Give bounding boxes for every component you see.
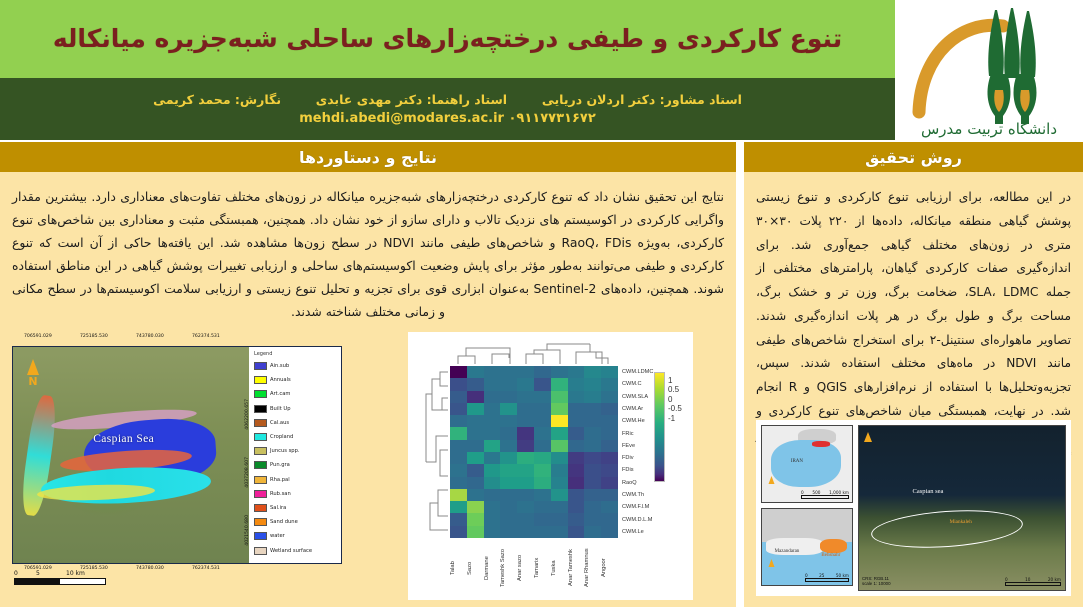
heatmap-cell [484, 452, 501, 464]
legend-item: Annuals [254, 373, 341, 387]
legend-swatch [254, 532, 267, 540]
behshahr-highlight [820, 539, 847, 553]
heatmap-cell [484, 477, 501, 489]
legend-swatch [254, 390, 267, 398]
heatmap-cell [584, 403, 601, 415]
heatmap-cell [568, 489, 585, 501]
legend-swatch [254, 504, 267, 512]
legend-item: Ain.sub [254, 359, 341, 373]
heatmap-cell [601, 378, 618, 390]
heatmap-cell [551, 489, 568, 501]
heatmap-cell [517, 427, 534, 439]
heatmap-wrapper: CWM.LDMCCWM.CCWM.SLACWM.ArCWM.HeFRicFEve… [408, 332, 693, 600]
legend-item: Sand dune [254, 515, 341, 529]
heatmap-cell [584, 513, 601, 525]
heatmap-cell [517, 464, 534, 476]
heatmap-cell [517, 440, 534, 452]
heatmap-cell [517, 378, 534, 390]
heatmap-column-label: Anar Tameshk [568, 539, 585, 597]
heatmap-cell [584, 489, 601, 501]
heatmap-cell [450, 489, 467, 501]
row-dendrogram [422, 366, 448, 538]
mazandaran-north-arrow-icon [766, 559, 777, 579]
heatmap-cell [450, 415, 467, 427]
heatmap-cell [467, 513, 484, 525]
heatmap-cell [551, 526, 568, 538]
heatmap-cell [500, 501, 517, 513]
map-x-tick-top-1: 725185.530 [80, 334, 108, 339]
mazandaran-scalebar: 0 25 50 km [805, 573, 849, 582]
heatmap-cell [517, 489, 534, 501]
legend-item: Rha.pal [254, 473, 341, 487]
scalebar-max: 10 km [66, 570, 85, 577]
legend-label: Built Up [270, 406, 291, 412]
heatmap-cell [568, 378, 585, 390]
maz-scale-max: 50 km [836, 573, 849, 578]
heatmap-cell [601, 477, 618, 489]
sea-label: Caspian Sea [93, 433, 154, 445]
map-canvas: Caspian Sea N [13, 347, 249, 563]
heatmap-cell [450, 513, 467, 525]
iran-boundary [771, 440, 841, 487]
iran-scale-max: 1,000 km [829, 490, 849, 495]
scalebar-bar [14, 578, 106, 585]
heatmap-cell [517, 501, 534, 513]
legend-item: Wetland surface [254, 543, 341, 557]
results-section-header: نتایج و دستاوردها [0, 142, 736, 172]
legend-label: Ain.sub [270, 363, 289, 369]
contact-line: ۰۹۱۱۷۷۳۱۶۷۲ mehdi.abedi@modares.ac.ir [299, 111, 596, 126]
heatmap-cell [551, 403, 568, 415]
map-x-tick-top-3: 762374.531 [192, 334, 220, 339]
heatmap-cell [500, 366, 517, 378]
heatmap-cell [534, 526, 551, 538]
study-area-inset-figure: IRAN 0 500 1,000 km [756, 420, 1071, 596]
heatmap-cell [534, 513, 551, 525]
crs-line-2: scale 1: 10000 [862, 581, 891, 587]
heatmap-cell [601, 452, 618, 464]
satellite-crs-info: CRS: RGB.11 scale 1: 10000 [862, 576, 891, 587]
heatmap-cell [551, 477, 568, 489]
heatmap-cell [484, 427, 501, 439]
method-section-header: روش تحقیق [744, 142, 1083, 172]
tarbiat-modares-logo-icon: دانشگاه تربیت مدرس [899, 2, 1079, 138]
heatmap-cell [500, 391, 517, 403]
legend-label: Art.cam [270, 391, 290, 397]
heatmap-cell [601, 391, 618, 403]
mazandaran-scalebar-bar [805, 578, 849, 582]
legend-label: Sal.ira [270, 505, 286, 511]
heatmap-cell [601, 464, 618, 476]
heatmap-row-label: CWM.F.l.M [622, 501, 692, 513]
heatmap-cell [534, 391, 551, 403]
heatmap-cell [517, 415, 534, 427]
heatmap-cell [500, 427, 517, 439]
heatmap-cell [467, 427, 484, 439]
legend-label: Cropland [270, 434, 293, 440]
heatmap-cell [601, 501, 618, 513]
heatmap-cell [568, 501, 585, 513]
heatmap-cell [517, 403, 534, 415]
heatmap-cell [534, 366, 551, 378]
legend-item: Art.cam [254, 387, 341, 401]
results-paragraph: نتایج این تحقیق نشان داد که تنوع کارکردی… [12, 186, 724, 324]
colorbar-tick: -0.5 [668, 404, 682, 413]
heatmap-cell [450, 391, 467, 403]
heatmap-cell [584, 391, 601, 403]
iran-scale-mid: 500 [812, 490, 820, 495]
legend-label: Rha.pal [270, 477, 290, 483]
heatmap-cell [467, 501, 484, 513]
iran-scalebar-bar [801, 495, 849, 499]
heatmap-cell [517, 526, 534, 538]
iran-locator-map: IRAN 0 500 1,000 km [761, 425, 853, 503]
sat-scale-max: 20 km [1048, 577, 1061, 582]
legend-item: Juncus spp. [254, 444, 341, 458]
heatmap-cell [517, 513, 534, 525]
heatmap-cell [517, 452, 534, 464]
heatmap-column-label: Angoor [601, 539, 618, 597]
heatmap-cell [500, 513, 517, 525]
heatmap-cell [568, 366, 585, 378]
results-panel: نتایج این تحقیق نشان داد که تنوع کارکردی… [0, 172, 736, 607]
heatmap-row-label: CWM.D.L.M [622, 513, 692, 525]
legend-swatch [254, 376, 267, 384]
legend-title: Legend [254, 351, 341, 357]
heatmap-cell [568, 526, 585, 538]
heatmap-cell [517, 477, 534, 489]
heatmap-cell [534, 452, 551, 464]
heatmap-cell [534, 415, 551, 427]
heatmap-cell [450, 464, 467, 476]
heatmap-cell [450, 477, 467, 489]
behshahr-label: Behshahr [821, 553, 840, 558]
colorbar-tick: -1 [668, 414, 682, 423]
heatmap-cell [467, 391, 484, 403]
heatmap-cell [467, 366, 484, 378]
heatmap-cell [601, 489, 618, 501]
heatmap-cell [584, 366, 601, 378]
poster-title-band: تنوع کارکردی و طیفی درختچه‌زارهای ساحلی … [0, 0, 895, 78]
north-arrow-triangle [27, 359, 39, 375]
heatmap-cell [601, 403, 618, 415]
heatmap-cell [500, 440, 517, 452]
heatmap-cell [467, 415, 484, 427]
heatmap-cell [534, 403, 551, 415]
sat-scale-zero: 0 [1005, 577, 1008, 582]
satellite-study-area-map: Caspian sea Miankaleh CRS: RGB.11 scale … [858, 425, 1066, 591]
iran-scale-zero: 0 [801, 490, 804, 495]
heatmap-cell [467, 378, 484, 390]
iran-label: IRAN [791, 459, 803, 464]
poster-author-band: استاد مشاور: دکتر اردلان دریایی استاد را… [0, 78, 895, 140]
satellite-scalebar: 0 10 20 km [1005, 577, 1061, 586]
heatmap-cell [450, 378, 467, 390]
heatmap-column-label: Anar Rhamnus [584, 539, 601, 597]
heatmap-cell [534, 378, 551, 390]
map-y-tick-0: 4062200.657 [245, 399, 250, 430]
heatmap-cell [534, 477, 551, 489]
heatmap-cell [450, 452, 467, 464]
heatmap-column-label: Tamarix [534, 539, 551, 597]
heatmap-cell [534, 489, 551, 501]
method-panel: در این مطالعه، برای ارزیابی تنوع کارکردی… [744, 172, 1083, 607]
satellite-north-arrow-icon [864, 432, 872, 442]
heatmap-cell [450, 427, 467, 439]
north-arrow-triangle [769, 476, 775, 484]
maz-scale-mid: 25 [819, 573, 824, 578]
legend-item: Cal.aus [254, 416, 341, 430]
legend-rows: Ain.subAnnualsArt.camBuilt UpCal.ausCrop… [254, 359, 341, 558]
scalebar-numbers: 0 5 10 km [14, 570, 154, 577]
heatmap-column-labels: TalabSazoDarmaneTameshk SazoAnar sazoTam… [450, 539, 618, 597]
heatmap-cell [584, 477, 601, 489]
heatmap-cell [584, 464, 601, 476]
heatmap-cell [551, 501, 568, 513]
colorbar-tick: 0 [668, 395, 682, 404]
heatmap-cell [534, 464, 551, 476]
legend-swatch [254, 433, 267, 441]
miankaleh-label: Miankaleh [950, 519, 972, 525]
heatmap-colorbar [654, 372, 665, 482]
mazandaran-locator-map: Mazandaran Behshahr 0 25 50 km [761, 508, 853, 586]
heatmap-cell [450, 440, 467, 452]
north-arrow-icon: N [22, 359, 44, 399]
heatmap-cell [601, 415, 618, 427]
legend-item: Sal.ira [254, 501, 341, 515]
heatmap-cell [500, 415, 517, 427]
author-label: نگارش: محمد کریمی [153, 92, 281, 107]
caspian-sea-label: Caspian sea [913, 488, 944, 495]
heatmap-cell [484, 440, 501, 452]
heatmap-colorbar-ticks: 10.50-0.5-1 [668, 376, 682, 423]
supervisor-label: استاد راهنما: دکتر مهدی عابدی [316, 92, 507, 107]
heatmap-cell [584, 526, 601, 538]
scalebar-zero: 0 [14, 570, 36, 577]
legend-swatch [254, 362, 267, 370]
map-x-tick-top-2: 743780.030 [136, 334, 164, 339]
legend-label: Juncus spp. [270, 448, 300, 454]
heatmap-cell [584, 415, 601, 427]
results-heading: نتایج و دستاوردها [299, 148, 437, 167]
heatmap-cell [484, 391, 501, 403]
heatmap-cell [551, 415, 568, 427]
phone-number: ۰۹۱۱۷۷۳۱۶۷۲ [508, 111, 595, 126]
map-scalebar: 0 5 10 km [14, 570, 154, 585]
heatmap-cell [467, 452, 484, 464]
legend-label: Sand dune [270, 519, 298, 525]
heatmap-cell [551, 513, 568, 525]
heatmap-cell [500, 489, 517, 501]
heatmap-cell [568, 464, 585, 476]
maz-scale-zero: 0 [805, 573, 808, 578]
heatmap-cell [467, 464, 484, 476]
map-y-tick-1: 4037208.607 [245, 457, 250, 488]
heatmap-cell [568, 440, 585, 452]
study-area-highlight [812, 441, 830, 446]
legend-swatch [254, 405, 267, 413]
map-x-tick-bot-3: 762374.531 [192, 566, 220, 571]
heatmap-cell [551, 378, 568, 390]
heatmap-cell [484, 501, 501, 513]
legend-label: Pun.gra [270, 462, 290, 468]
heatmap-cell [534, 501, 551, 513]
landcover-map-figure: Caspian Sea N Legend Ain.subAnnualsArt.c… [12, 332, 342, 594]
heatmap-cell [551, 440, 568, 452]
heatmap-cell [551, 452, 568, 464]
legend-swatch [254, 518, 267, 526]
heatmap-cell [584, 427, 601, 439]
legend-label: Cal.aus [270, 420, 289, 426]
heatmap-cell [467, 440, 484, 452]
email-address: mehdi.abedi@modares.ac.ir [299, 111, 504, 126]
heatmap-cell [484, 526, 501, 538]
legend-swatch [254, 547, 267, 555]
north-arrow-triangle [769, 559, 775, 567]
legend-swatch [254, 476, 267, 484]
heatmap-cell [450, 366, 467, 378]
heatmap-cell [534, 427, 551, 439]
heatmap-cell [551, 464, 568, 476]
heatmap-column-label: Tuska [551, 539, 568, 597]
map-frame: Caspian Sea N Legend Ain.subAnnualsArt.c… [12, 346, 342, 564]
heatmap-cells [450, 366, 618, 538]
logo-caption: دانشگاه تربیت مدرس [921, 120, 1057, 138]
heatmap-cell [484, 403, 501, 415]
map-y-tick-2: 4021540.680 [245, 515, 250, 546]
correlation-heatmap-figure: CWM.LDMCCWM.CCWM.SLACWM.ArCWM.HeFRicFEve… [408, 332, 693, 600]
heatmap-cell [450, 403, 467, 415]
heatmap-cell [500, 378, 517, 390]
heatmap-cell [584, 501, 601, 513]
heatmap-column-label: Tameshk Sazo [500, 539, 517, 597]
method-heading: روش تحقیق [865, 148, 962, 167]
legend-item: Pun.gra [254, 458, 341, 472]
heatmap-cell [484, 489, 501, 501]
legend-item: Built Up [254, 402, 341, 416]
scalebar-mid: 5 [36, 570, 66, 577]
legend-swatch [254, 490, 267, 498]
heatmap-cell [568, 427, 585, 439]
map-x-tick-top-0: 706591.029 [24, 334, 52, 339]
heatmap-cell [467, 526, 484, 538]
heatmap-cell [500, 464, 517, 476]
legend-label: Annuals [270, 377, 291, 383]
iran-scalebar: 0 500 1,000 km [801, 490, 849, 499]
legend-item: Cropland [254, 430, 341, 444]
heatmap-cell [568, 452, 585, 464]
legend-label: water [270, 533, 285, 539]
heatmap-column-label: Talab [450, 539, 467, 597]
legend-swatch [254, 447, 267, 455]
heatmap-cell [500, 526, 517, 538]
heatmap-cell [517, 391, 534, 403]
heatmap-cell [467, 403, 484, 415]
heatmap-column-label: Darmane [484, 539, 501, 597]
heatmap-cell [551, 427, 568, 439]
heatmap-cell [517, 366, 534, 378]
mazandaran-label: Mazandaran [775, 549, 800, 554]
north-letter: N [22, 375, 44, 388]
heatmap-cell [551, 391, 568, 403]
heatmap-cell [484, 513, 501, 525]
heatmap-column-label: Sazo [467, 539, 484, 597]
heatmap-cell [484, 464, 501, 476]
figure-row: Caspian Sea N Legend Ain.subAnnualsArt.c… [12, 332, 724, 600]
heatmap-cell [467, 477, 484, 489]
heatmap-cell [568, 391, 585, 403]
heatmap-cell [584, 452, 601, 464]
heatmap-cell [584, 378, 601, 390]
colorbar-tick: 0.5 [668, 385, 682, 394]
legend-item: Rub.san [254, 487, 341, 501]
legend-item: water [254, 529, 341, 543]
heatmap-cell [601, 526, 618, 538]
miankaleh-outline [870, 506, 1025, 553]
heatmap-cell [484, 378, 501, 390]
poster-root: تنوع کارکردی و طیفی درختچه‌زارهای ساحلی … [0, 0, 1083, 607]
colorbar-tick: 1 [668, 376, 682, 385]
page-title: تنوع کارکردی و طیفی درختچه‌زارهای ساحلی … [39, 25, 856, 54]
sat-scale-mid: 10 [1025, 577, 1030, 582]
author-line: استاد مشاور: دکتر اردلان دریایی استاد را… [153, 92, 742, 107]
map-legend: Legend Ain.subAnnualsArt.camBuilt UpCal.… [251, 349, 341, 563]
heatmap-cell [467, 489, 484, 501]
north-arrow-triangle [864, 432, 872, 442]
iran-north-arrow-icon [766, 476, 777, 496]
heatmap-cell [500, 452, 517, 464]
heatmap-cell [568, 415, 585, 427]
heatmap-cell [484, 366, 501, 378]
heatmap-cell [601, 513, 618, 525]
heatmap-cell [500, 477, 517, 489]
heatmap-cell [568, 403, 585, 415]
legend-swatch [254, 419, 267, 427]
heatmap-cell [534, 440, 551, 452]
heatmap-row-label: CWM.Th [622, 489, 692, 501]
column-dendrogram [450, 340, 618, 364]
legend-label: Wetland surface [270, 548, 312, 554]
heatmap-row-label: CWM.Le [622, 526, 692, 538]
university-logo: دانشگاه تربیت مدرس [895, 0, 1083, 140]
heatmap-cell [450, 526, 467, 538]
heatmap-cell [601, 366, 618, 378]
heatmap-cell [584, 440, 601, 452]
advisor-label: استاد مشاور: دکتر اردلان دریایی [542, 92, 742, 107]
satellite-scalebar-bar [1005, 582, 1061, 586]
heatmap-cell [500, 403, 517, 415]
heatmap-cell [484, 415, 501, 427]
inset-left-column: IRAN 0 500 1,000 km [761, 425, 853, 591]
heatmap-cell [601, 440, 618, 452]
heatmap-column-label: Anar sazo [517, 539, 534, 597]
heatmap-cell [568, 477, 585, 489]
heatmap-cell [551, 366, 568, 378]
heatmap-cell [601, 427, 618, 439]
heatmap-cell [568, 513, 585, 525]
heatmap-cell [450, 501, 467, 513]
legend-swatch [254, 461, 267, 469]
legend-label: Rub.san [270, 491, 291, 497]
